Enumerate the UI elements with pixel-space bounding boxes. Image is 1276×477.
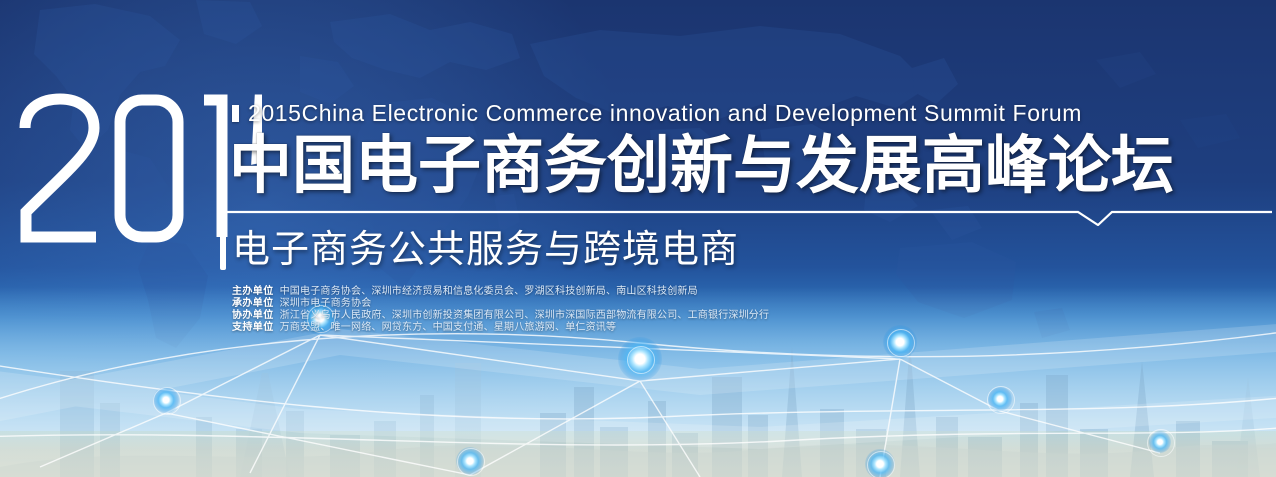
organizer-label: 承办单位: [232, 298, 274, 310]
organizer-value: 万商安盟、唯一网络、网贷东方、中国支付通、星期八旅游网、单仁资讯等: [280, 322, 617, 334]
organizer-row: 协办单位 浙江省义乌市人民政府、深圳市创新投资集团有限公司、深圳市深国际西部物流…: [232, 310, 1272, 322]
headline-rule: [232, 210, 1272, 226]
subtitle-row: 电子商务公共服务与跨境电商: [232, 228, 1272, 274]
conference-banner: 2015China Electronic Commerce innovation…: [0, 0, 1276, 477]
network-node: [1149, 431, 1171, 453]
tick-marker-icon: [232, 105, 239, 122]
network-node: [456, 447, 484, 475]
organizer-label: 协办单位: [232, 310, 274, 322]
organizer-row: 支持单位 万商安盟、唯一网络、网贷东方、中国支付通、星期八旅游网、单仁资讯等: [232, 322, 1272, 334]
network-node: [865, 449, 895, 477]
english-title: 2015China Electronic Commerce innovation…: [248, 100, 1082, 127]
headline-row: 中国电子商务创新与发展高峰论坛: [232, 132, 1272, 208]
organizer-label: 支持单位: [232, 322, 274, 334]
organizer-value: 中国电子商务协会、深圳市经济贸易和信息化委员会、罗湖区科技创新局、南山区科技创新…: [280, 286, 698, 298]
subtitle: 电子商务公共服务与跨境电商: [232, 226, 739, 272]
organizer-value: 浙江省义乌市人民政府、深圳市创新投资集团有限公司、深圳市深国际西部物流有限公司、…: [280, 310, 770, 322]
year-2015-graphic: [14, 92, 262, 244]
organizer-value: 深圳市电子商务协会: [280, 298, 372, 310]
network-node: [153, 387, 179, 413]
organizer-row: 承办单位 深圳市电子商务协会: [232, 298, 1272, 310]
organizer-label: 主办单位: [232, 286, 274, 298]
network-node: [618, 337, 662, 381]
main-headline: 中国电子商务创新与发展高峰论坛: [229, 128, 1174, 204]
banner-content: 2015China Electronic Commerce innovation…: [232, 96, 1272, 334]
organizer-row: 主办单位 中国电子商务协会、深圳市经济贸易和信息化委员会、罗湖区科技创新局、南山…: [232, 286, 1272, 298]
organizer-list: 主办单位 中国电子商务协会、深圳市经济贸易和信息化委员会、罗湖区科技创新局、南山…: [232, 286, 1272, 334]
eyebrow-row: 2015China Electronic Commerce innovation…: [232, 96, 1272, 130]
network-node: [988, 387, 1012, 411]
subtitle-accent-bar: [220, 232, 226, 270]
